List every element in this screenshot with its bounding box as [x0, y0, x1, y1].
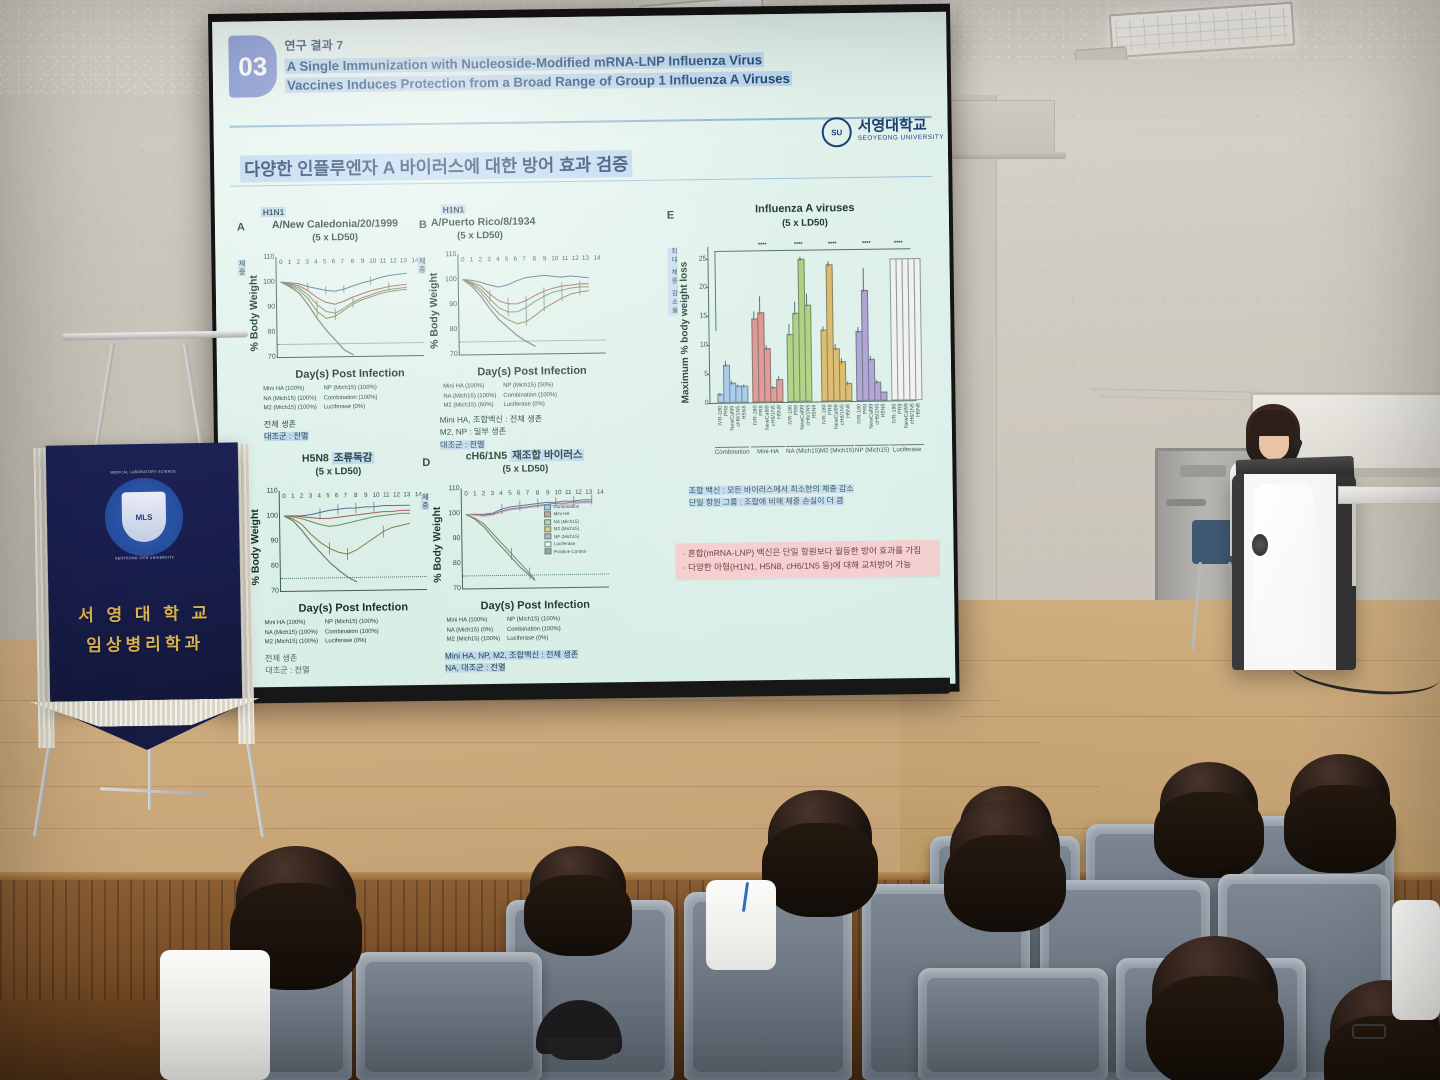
- seat[interactable]: [918, 968, 1108, 1080]
- audience-head: [236, 846, 356, 950]
- sig-marker: ****: [894, 240, 903, 246]
- panel-d-xtick: 7: [526, 490, 530, 497]
- panel-a-ytick: 100: [263, 279, 275, 286]
- panel-d-ytick: 100: [448, 510, 460, 517]
- panel-a-xtick: 10: [369, 258, 376, 265]
- panel-a-ytick: 110: [263, 254, 274, 261]
- crest-ring-text-bottom: SEOYEONG 1978 UNIVERSITY: [106, 555, 184, 560]
- auditorium-photo: 03 연구 결과 7 A Single Immunization with Nu…: [0, 0, 1440, 1080]
- panel-e-letter: E: [667, 210, 675, 222]
- conclusion-bullet-2: · 다양한 아형(H1N1, H5N8, cH6/1N5 등)에 대해 교차방어…: [683, 558, 933, 575]
- panel-d-xtick: 0: [464, 490, 468, 497]
- panel-a-xtick: 5: [323, 258, 327, 265]
- bar: [880, 392, 887, 401]
- panel-d-dose: (5 x LD50): [502, 464, 548, 476]
- projection-screen: 03 연구 결과 7 A Single Immunization with Nu…: [208, 4, 960, 702]
- panel-c-note-2: 대조군 : 전멸: [265, 666, 310, 676]
- panel-d-note-2: NA, 대조군 : 전멸: [445, 663, 506, 673]
- panel-a-strain: H1N1: [261, 207, 287, 217]
- panel-b-xtick: 4: [496, 256, 500, 263]
- panel-b-xtick: 10: [551, 255, 558, 262]
- panel-d-xtick: 3: [491, 490, 495, 497]
- panel-d-xtick: 14: [597, 489, 604, 496]
- panel-e-notes: 조합 백신 : 모든 바이러스에서 최소한의 체중 감소 단일 항원 그룹 : …: [689, 483, 854, 510]
- panel-a-dose: (5 x LD50): [312, 232, 358, 244]
- seal-text: SU: [831, 128, 842, 137]
- inline-legend-label: Positive Control: [554, 547, 586, 555]
- panel-a-ytick: 90: [267, 304, 275, 311]
- panel-e-title: Influenza A viruses: [755, 202, 855, 215]
- panel-c-xtick: 5: [326, 492, 330, 499]
- panel-e-subtitle: (5 x LD50): [782, 218, 828, 230]
- panel-c-ytick: 90: [271, 538, 279, 545]
- legend-item: Luciferase (0%): [507, 634, 561, 644]
- panel-c-xtick: 1: [291, 493, 295, 500]
- panel-d-ytick: 70: [453, 585, 461, 592]
- panel-b-ytick: 100: [445, 276, 457, 283]
- panel-e-note-1: 조합 백신 : 모든 바이러스에서 최소한의 체중 감소: [689, 484, 854, 495]
- panel-e-note-2: 단일 항원 그룹 : 조합에 비해 체중 손실이 더 큼: [689, 497, 844, 508]
- panel-e-plot: 0 5 10 15 20 25 **** ****: [707, 244, 916, 404]
- panel-a-xtick: 11: [380, 258, 387, 265]
- panel-c-legend: Mini HA (100%) NP (Mich15) (100%) NA (Mi…: [264, 618, 378, 648]
- panel-d-xtick: 5: [508, 490, 512, 497]
- crest-ring-text-top: MEDICAL LABORATORY SCIENCE: [104, 469, 182, 474]
- panel-b-note-1: Mini HA, 조합백신 : 전체 생존: [440, 414, 543, 424]
- panel-a-xtick: 7: [340, 258, 344, 265]
- panel-d-curves: [462, 486, 609, 588]
- panel-d-xtick: 8: [536, 489, 540, 496]
- panel-a-xtick: 12: [390, 257, 397, 264]
- panel-b-xtick: 2: [479, 256, 483, 263]
- cat-label: H5N8: [846, 404, 852, 418]
- panel-d-ytick: 80: [453, 560, 461, 567]
- panel-a-title: A/New Caledonia/20/1999: [272, 217, 398, 231]
- university-name-en: SEOYEONG UNIVERSITY: [858, 133, 944, 144]
- group-label: Mini-HA: [757, 448, 779, 455]
- panel-d-ylabel-kr: 체중: [421, 493, 429, 510]
- panel-c-curves: [280, 489, 427, 591]
- panel-d-plot: 110 100 90 80 70: [461, 486, 609, 589]
- panel-d-ylabel: % Body Weight: [431, 491, 444, 583]
- panel-c-note-1: 전체 생존: [265, 654, 298, 663]
- sig-marker: ****: [828, 241, 837, 247]
- panel-c-xlabel: Day(s) Post Infection: [280, 601, 426, 615]
- panel-a-ylabel: % Body Weight: [247, 259, 260, 351]
- legend-item: M2 (Mich15) (100%): [447, 635, 500, 645]
- panel-d-note: Mini HA, NP, M2, 조합백신 : 전체 생존 NA, 대조군 : …: [445, 649, 579, 675]
- cat-label: H5N8: [916, 403, 922, 417]
- panel-b-xtick: 12: [572, 255, 579, 262]
- panel-b-xtick: 9: [543, 255, 547, 262]
- panel-d-ytick: 90: [453, 535, 461, 542]
- panel-a-curves: [276, 255, 423, 357]
- panel-c-xtick: 6: [335, 492, 339, 499]
- wall-soffit: [948, 100, 1055, 154]
- sig-marker: ****: [794, 242, 803, 248]
- department-banner: MLS SEOYEONG 1978 UNIVERSITY MEDICAL LAB…: [46, 442, 243, 707]
- panel-b-curves: [458, 252, 605, 354]
- panel-d-note-1: Mini HA, NP, M2, 조합백신 : 전체 생존: [445, 650, 578, 661]
- panel-a-note-1: 전체 생존: [264, 420, 297, 429]
- panel-d: D cH6/1N5 재조합 바이러스 (5 x LD50) 체중 % Body …: [422, 444, 625, 647]
- panel-b-xtick: 5: [505, 256, 509, 263]
- legend-item: Luciferase (0%): [324, 403, 378, 413]
- audience-lab-coat: [1392, 900, 1440, 1020]
- panel-c-note: 전체 생존 대조군 : 전멸: [265, 653, 310, 678]
- panel-d-xtick: 11: [565, 489, 572, 496]
- panel-d-xtick: 2: [482, 490, 486, 497]
- panel-c-ytick: 80: [271, 563, 279, 570]
- title-line-2: Vaccines Induces Protection from a Broad…: [285, 71, 792, 93]
- university-name-kr: 서영대학교: [858, 118, 944, 134]
- panel-b-xtick: 7: [522, 256, 526, 263]
- audience-head: [768, 790, 872, 882]
- bar: [776, 379, 783, 402]
- conclusion-box: · 혼합(mRNA-LNP) 백신은 단일 항원보다 월등한 방어 효과를 가짐…: [675, 540, 939, 580]
- panel-b-xtick: 8: [533, 255, 537, 262]
- panel-a-xtick: 4: [314, 258, 318, 265]
- panel-d-legend: Mini HA (100%) NP (Mich15) (100%) NA (Mi…: [446, 615, 560, 645]
- slide-korean-subtitle: 다양한 인플루엔자 A 바이러스에 대한 방어 효과 검증: [240, 150, 632, 182]
- panel-d-xtick: 10: [555, 489, 562, 496]
- banner-line-1: 서 영 대 학 교: [48, 598, 240, 626]
- audience-head: [1152, 936, 1278, 1046]
- panel-b-xtick: 13: [582, 255, 589, 262]
- panel-b-note-2: M2, NP : 일부 생존: [440, 427, 507, 437]
- legend-item: M2 (Mich15) (60%): [443, 401, 496, 411]
- panel-d-xtick: 9: [546, 489, 550, 496]
- group-label: NA (Mich15): [786, 447, 820, 454]
- panel-b-strain: H1N1: [441, 204, 467, 214]
- podium-side-vent: [1252, 534, 1268, 556]
- panel-a-xtick: 9: [361, 258, 365, 265]
- panel-b-legend: Mini HA (100%) NP (Mich15) (50%) NA (Mic…: [443, 381, 557, 411]
- panel-c-xtick: 4: [317, 492, 321, 499]
- audience-lab-coat: [160, 950, 270, 1080]
- panel-b-xtick: 6: [514, 256, 518, 263]
- legend-item: Luciferase (0%): [503, 400, 557, 410]
- panel-d-letter: D: [422, 457, 430, 469]
- panel-c-xtick: 2: [300, 493, 304, 500]
- university-logo: SU 서영대학교 SEOYEONG UNIVERSITY: [822, 116, 945, 148]
- panel-a-letter: A: [237, 222, 245, 234]
- panel-a-xtick: 0: [279, 259, 283, 266]
- cat-label: H5N8: [742, 406, 748, 420]
- title-line-1: A Single Immunization with Nucleoside-Mo…: [285, 52, 764, 74]
- panel-b-plot: 110 100 90 80 70: [457, 252, 605, 355]
- mls-crest-icon: MLS: [104, 477, 183, 556]
- slide-content: 03 연구 결과 7 A Single Immunization with Nu…: [212, 12, 955, 694]
- group-label: Luciferase: [893, 446, 922, 453]
- panel-b-title: A/Puerto Rico/8/1934: [431, 215, 536, 228]
- sig-marker: ****: [862, 241, 871, 247]
- panel-b-xtick: 0: [461, 256, 465, 263]
- group-label: Combination: [715, 448, 750, 455]
- panel-b-xlabel: Day(s) Post Infection: [459, 364, 605, 378]
- panel-c-xtick: 10: [373, 492, 380, 499]
- panel-a-xlabel: Day(s) Post Infection: [277, 367, 423, 381]
- panel-d-title-kr: 재조합 바이러스: [510, 449, 585, 462]
- slide-kicker: 연구 결과 7: [284, 36, 343, 54]
- panel-c-title-kr: 조류독감: [332, 452, 375, 465]
- panel-b-xtick: 11: [562, 255, 569, 262]
- panel-c-title: H5N8: [302, 452, 329, 464]
- cat-label: H5N8: [812, 405, 818, 419]
- eyeglasses: [1352, 1024, 1386, 1039]
- panel-c-xtick: 8: [354, 492, 358, 499]
- panel-b-ylabel-kr: 체중: [417, 257, 425, 274]
- panel-c-xtick: 13: [403, 491, 410, 498]
- panel-c-plot: 110 100 90 80 70: [279, 489, 427, 592]
- panel-c-ytick: 70: [271, 588, 279, 595]
- panel-b-xtick: 3: [487, 256, 491, 263]
- panel-a: A H1N1 A/New Caledonia/20/1999 (5 x LD50…: [237, 205, 430, 408]
- panel-e: E Influenza A viruses (5 x LD50) 최대 체중 감…: [667, 200, 931, 474]
- panel-b-ylabel: % Body Weight: [427, 257, 440, 349]
- audience-lab-coat: [706, 880, 776, 970]
- panel-a-ytick: 70: [268, 354, 276, 361]
- side-table-leg: [1352, 502, 1356, 586]
- panel-b-dose: (5 x LD50): [457, 230, 503, 243]
- legend-item: M2 (Mich15) (100%): [263, 404, 316, 414]
- audience-head: [950, 800, 1060, 896]
- panel-a-xtick: 2: [297, 259, 301, 266]
- legend-item: M2 (Mich15) (100%): [265, 638, 318, 648]
- panel-a-xtick: 3: [305, 259, 309, 266]
- panel-b-xtick: 1: [470, 256, 474, 263]
- panel-d-xtick: 13: [585, 489, 592, 496]
- panel-b-xtick: 14: [594, 255, 601, 262]
- slide-english-title: A Single Immunization with Nucleoside-Mo…: [285, 49, 845, 95]
- cat-label: H5N8: [777, 405, 783, 419]
- slide-section-badge: 03: [228, 35, 277, 98]
- panel-c-xtick: 9: [364, 492, 368, 499]
- panel-b-ytick: 90: [449, 301, 457, 308]
- panel-a-note: 전체 생존 대조군 : 전멸: [264, 419, 309, 444]
- bar: [913, 258, 922, 400]
- panel-d-ytick: 110: [448, 485, 459, 492]
- panel-a-legend: Mini HA (100%) NP (Mich15) (100%) NA (Mi…: [263, 384, 377, 414]
- panel-c-xtick: 0: [282, 493, 286, 500]
- panel-a-plot: 110 100 90 80 70: [275, 255, 423, 358]
- seat[interactable]: [356, 952, 542, 1080]
- audience-head: [1290, 754, 1390, 840]
- panel-c-ytick: 100: [266, 513, 278, 520]
- audience-head: [1160, 762, 1258, 846]
- group-label: NP (Mich15): [855, 447, 889, 454]
- panel-d-xtick: 1: [473, 490, 477, 497]
- panel-b-ytick: 110: [445, 251, 456, 258]
- wall-rail: [948, 152, 1066, 159]
- panel-c-ytick: 110: [266, 488, 277, 495]
- panel-b: B H1N1 A/Puerto Rico/8/1934 (5 x LD50) 체…: [419, 202, 612, 405]
- panel-a-note-2: 대조군 : 전멸: [264, 432, 309, 442]
- panel-d-xtick: 4: [499, 490, 503, 497]
- panel-c-xtick: 7: [344, 492, 348, 499]
- cat-label: H5N8: [881, 404, 887, 418]
- panel-a-xtick: 13: [400, 257, 407, 264]
- sig-marker: ****: [758, 242, 767, 248]
- panel-d-xtick: 6: [517, 490, 521, 497]
- panel-a-xtick: 1: [288, 259, 292, 266]
- crest-shield: MLS: [122, 492, 167, 543]
- bar: [845, 383, 852, 401]
- legend-item: Luciferase (0%): [325, 637, 379, 647]
- panel-a-ytick: 80: [268, 329, 276, 336]
- crest-initials: MLS: [135, 512, 152, 521]
- university-seal-icon: SU: [822, 117, 852, 147]
- panel-e-ylabel-kr: 최대 체중 감소율: [667, 247, 678, 315]
- panel-a-xtick: 6: [332, 258, 336, 265]
- panel-c-xtick: 11: [383, 492, 390, 499]
- panel-a-xtick: 8: [351, 258, 355, 265]
- panel-e-ylabel: Maximum % body weight loss: [678, 243, 691, 403]
- bar: [804, 305, 812, 402]
- panel-d-inline-legend: Combination Mini HA NA (Mich15) M2 (Mich…: [544, 503, 586, 556]
- panel-a-ylabel-kr: 체중: [237, 259, 245, 276]
- group-label: M2 (Mich15): [820, 447, 854, 454]
- panel-b-ytick: 70: [450, 351, 458, 358]
- banner-line-2: 임상병리학과: [49, 628, 241, 656]
- panel-d-xlabel: Day(s) Post Infection: [462, 598, 608, 612]
- panel-c: C H5N8 조류독감 (5 x LD50) % Body Weight 110…: [240, 447, 433, 650]
- panel-d-xtick: 12: [575, 489, 582, 496]
- panel-b-letter: B: [419, 219, 427, 231]
- panel-d-title: cH6/1N5: [466, 450, 508, 463]
- panel-c-dose: (5 x LD50): [315, 466, 361, 478]
- panel-c-xtick: 12: [393, 491, 400, 498]
- audience-head: [530, 846, 626, 926]
- panel-c-xtick: 3: [309, 493, 313, 500]
- bar: [741, 385, 748, 402]
- panel-b-ytick: 80: [450, 326, 458, 333]
